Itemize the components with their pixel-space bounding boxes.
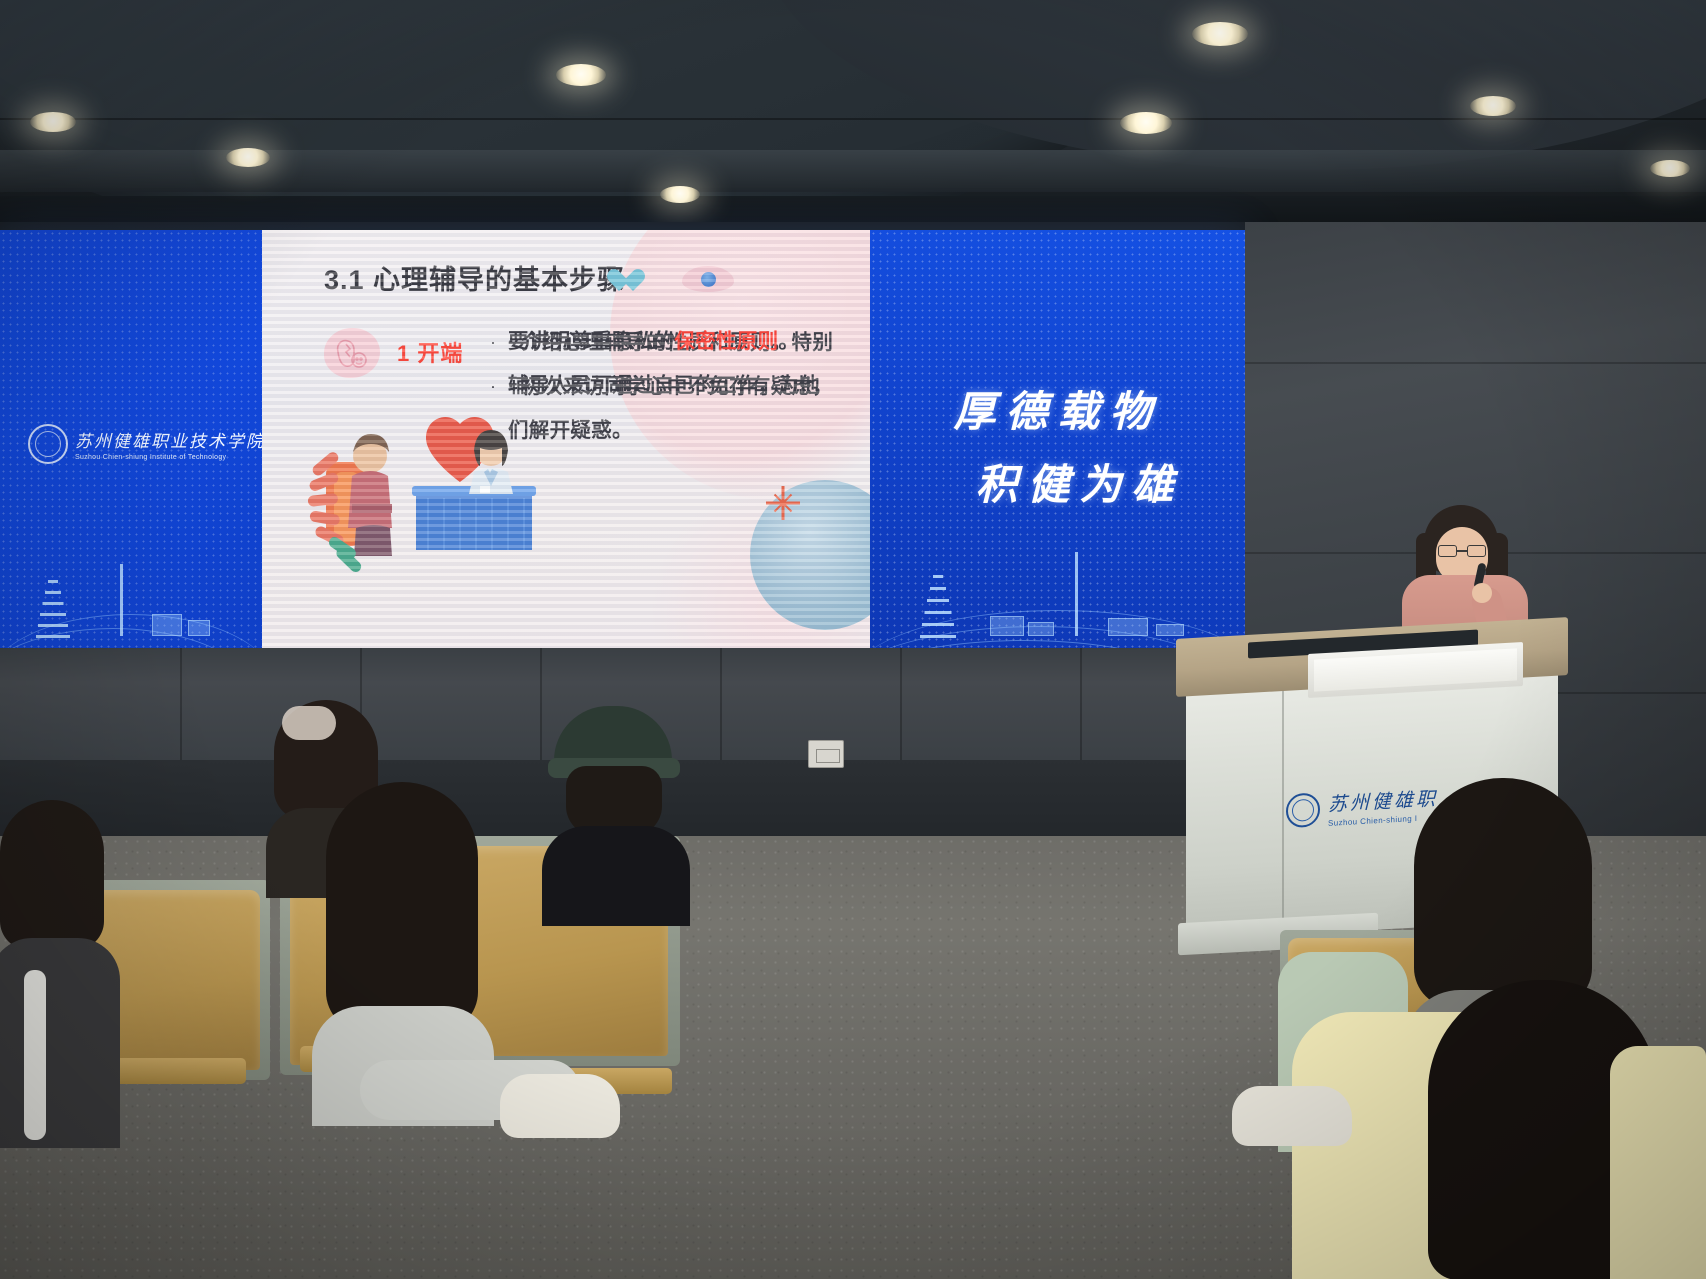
broken-heart-head-icon xyxy=(324,328,380,378)
downlight xyxy=(226,148,270,167)
bullet-marker: · xyxy=(490,326,508,359)
downlight xyxy=(1192,22,1248,46)
slide-right-blue-panel: 厚德载物 积健为雄 xyxy=(870,230,1245,650)
downlight xyxy=(1470,96,1516,116)
shoe xyxy=(1232,1086,1352,1156)
tv-tower-icon xyxy=(120,564,123,636)
downlight xyxy=(660,186,700,203)
power-socket xyxy=(808,740,844,768)
slide-content-panel: 3.1 心理辅导的基本步骤 1 开端 · · 介绍心理辅导的性质和 xyxy=(262,230,870,650)
university-name-en: Suzhou Chien-shiung Institute of Technol… xyxy=(75,454,262,461)
motto-line-2: 积健为雄 xyxy=(870,451,1245,512)
list-item-continuation: 辅导人员可通过自己的工作，为他 xyxy=(508,369,846,402)
university-seal-icon xyxy=(1286,792,1320,828)
led-presentation-screen: 苏州健雄职业技术学院 Suzhou Chien-shiung Institute… xyxy=(0,230,1245,650)
building-icon xyxy=(152,614,182,636)
bullet-marker: · xyxy=(490,370,508,403)
building-icon xyxy=(990,616,1024,636)
bullet-1-highlight: 保密性原则 xyxy=(674,330,778,353)
building-icon xyxy=(1028,622,1054,636)
star-burst-icon xyxy=(766,486,800,520)
lecture-hall-scene: 苏州健雄职业技术学院 Suzhou Chien-shiung Institute… xyxy=(0,0,1706,1279)
shoe xyxy=(500,1074,620,1144)
heart-icon xyxy=(614,268,640,292)
leaf-decoration xyxy=(308,465,378,555)
eye-icon xyxy=(682,266,734,292)
ceiling xyxy=(0,0,1706,232)
step-number-label: 1 开端 xyxy=(397,336,463,368)
pagoda-icon xyxy=(920,568,956,638)
skyline-graphic-left xyxy=(0,530,262,650)
audience-member xyxy=(0,800,120,1140)
university-logo-left: 苏州健雄职业技术学院 Suzhou Chien-shiung Institute… xyxy=(28,424,262,464)
tv-tower-icon xyxy=(1075,552,1078,636)
building-icon xyxy=(188,620,210,636)
bullet-1-line-2-end: 。 xyxy=(778,330,799,353)
list-item-continuation: 要讲明尊重隐私的保密性原则。 xyxy=(508,325,846,358)
bullet-1-line-2-plain: 要讲明尊重隐私的 xyxy=(508,330,674,353)
audience-member xyxy=(1610,1046,1706,1279)
downlight xyxy=(1120,112,1172,134)
pagoda-icon xyxy=(36,574,70,638)
motto-line-1: 厚德载物 xyxy=(870,378,1245,439)
university-name-cn: 苏州健雄职业技术学院 xyxy=(75,427,262,452)
audience-member xyxy=(548,706,678,906)
counseling-session-illustration xyxy=(308,400,568,555)
ceiling-seam xyxy=(0,118,1706,120)
slide-title: 3.1 心理辅导的基本步骤 xyxy=(324,258,625,297)
downlight xyxy=(30,112,76,132)
glasses-icon xyxy=(1438,545,1486,557)
slide-left-blue-panel: 苏州健雄职业技术学院 Suzhou Chien-shiung Institute… xyxy=(0,230,262,650)
downlight xyxy=(1650,160,1690,177)
motto-calligraphy: 厚德载物 积健为雄 xyxy=(870,378,1245,512)
building-icon xyxy=(1108,618,1148,636)
downlight xyxy=(556,64,606,86)
bullet-2-line-2-text: 辅导人员可通过自己的工作，为他 xyxy=(508,369,820,402)
university-seal-icon xyxy=(28,424,68,464)
